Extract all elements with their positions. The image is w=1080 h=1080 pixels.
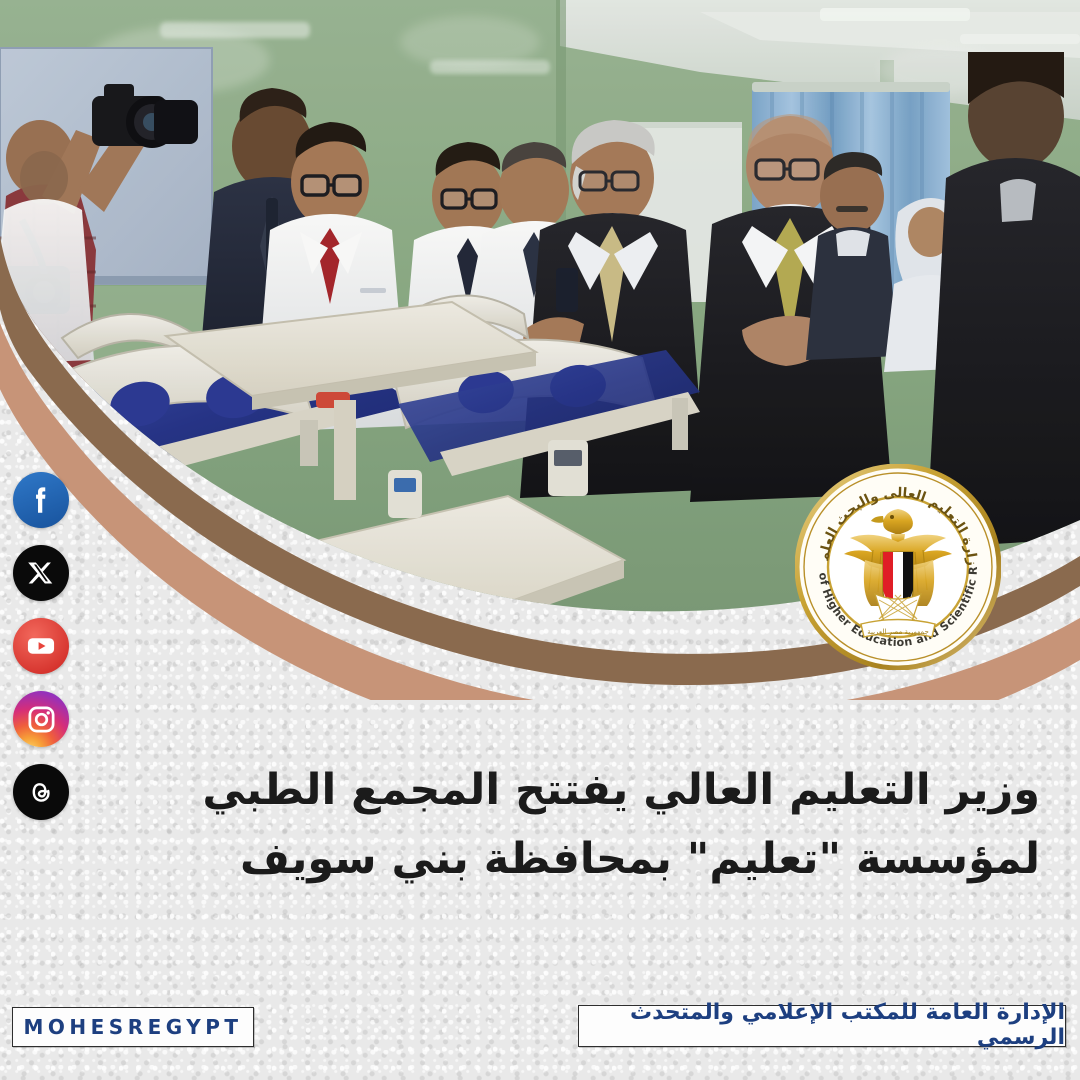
news-card: وزارة التعليم العالى والبحث العلمي Minis…: [0, 0, 1080, 1080]
facebook-link[interactable]: [13, 472, 69, 528]
ministry-logo: وزارة التعليم العالى والبحث العلمي Minis…: [795, 464, 1001, 670]
headline-line-2: لمؤسسة "تعليم" بمحافظة بني سويف: [96, 829, 1040, 890]
instagram-icon: [26, 704, 57, 735]
ministry-seal-graphic: وزارة التعليم العالى والبحث العلمي Minis…: [795, 464, 1001, 670]
x-icon: [27, 559, 55, 587]
footer: MOHESREGYPT الإدارة العامة للمكتب الإعلا…: [0, 988, 1080, 1080]
headline: وزير التعليم العالي يفتتح المجمع الطبي ل…: [96, 760, 1040, 890]
threads-icon: [26, 777, 56, 807]
media-office-badge[interactable]: الإدارة العامة للمكتب الإعلامي والمتحدث …: [578, 1005, 1066, 1047]
instagram-link[interactable]: [13, 691, 69, 747]
threads-link[interactable]: [13, 764, 69, 820]
media-office-label: الإدارة العامة للمكتب الإعلامي والمتحدث …: [579, 1000, 1065, 1050]
social-links: [13, 472, 69, 837]
x-link[interactable]: [13, 545, 69, 601]
handle-badge[interactable]: MOHESREGYPT: [12, 1007, 254, 1047]
handle-label: MOHESREGYPT: [23, 1015, 242, 1039]
headline-line-1: وزير التعليم العالي يفتتح المجمع الطبي: [96, 760, 1040, 821]
facebook-icon: [24, 483, 58, 517]
seal-scroll-text: جمهورية مصر العربية: [867, 628, 929, 636]
youtube-icon: [25, 630, 57, 662]
youtube-link[interactable]: [13, 618, 69, 674]
